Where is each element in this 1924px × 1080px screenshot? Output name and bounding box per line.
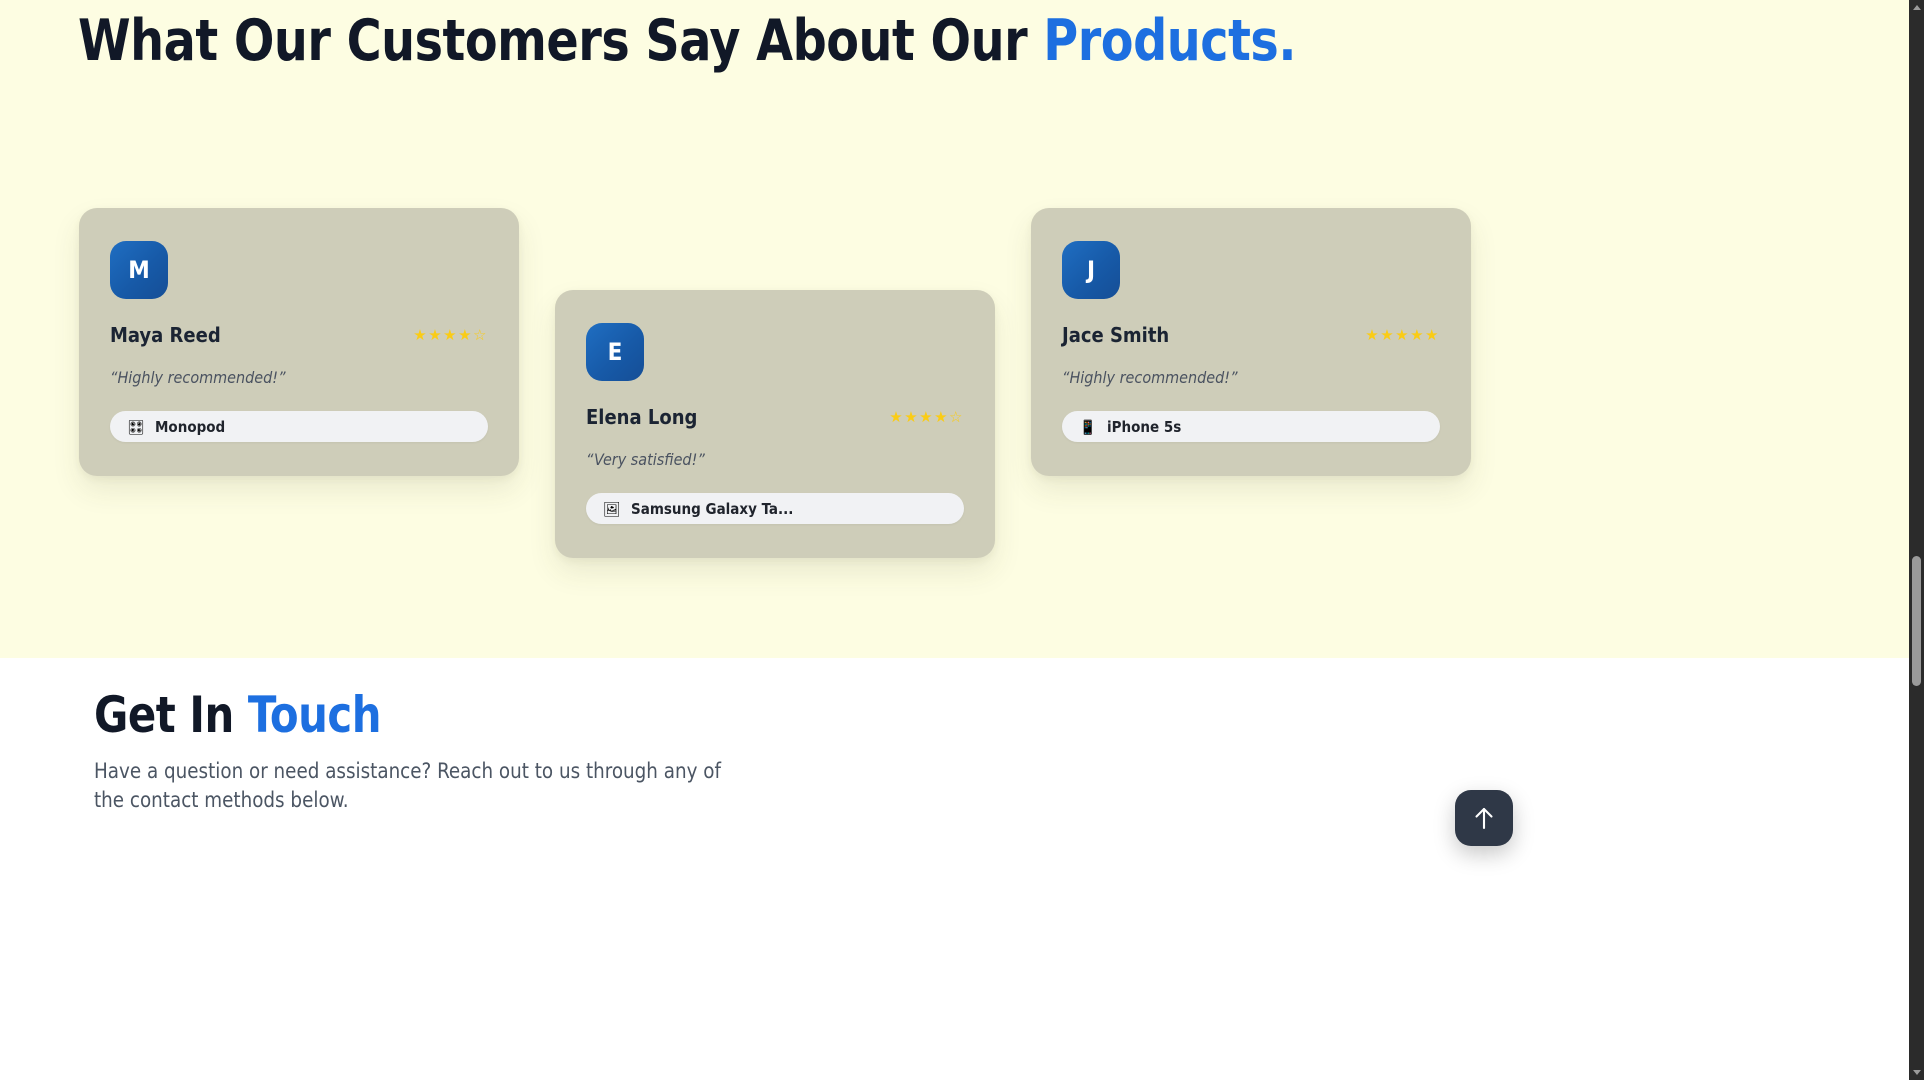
testimonial-header: Maya Reed ★★★★☆	[110, 323, 488, 347]
stars-filled-icon: ★★★★	[413, 327, 473, 344]
reviewer-name: Maya Reed	[110, 323, 221, 347]
review-quote: “Very satisfied!”	[586, 450, 705, 469]
product-name: iPhone 5s	[1107, 418, 1181, 436]
reviewer-name: Elena Long	[586, 405, 697, 429]
testimonial-card[interactable]: M Maya Reed ★★★★☆ “Highly recommended!” …	[79, 208, 519, 476]
contact-title-accent: Touch	[248, 686, 381, 744]
testimonials-section: What Our Customers Say About Our Product…	[0, 0, 1909, 658]
avatar: E	[586, 323, 644, 381]
stars-empty-icon: ☆	[473, 327, 488, 344]
scroll-down-arrow[interactable]	[1909, 1065, 1924, 1080]
page-title-accent: Products.	[1043, 8, 1296, 74]
review-quote: “Highly recommended!”	[1062, 368, 1238, 387]
review-quote: “Highly recommended!”	[110, 368, 286, 387]
testimonial-card[interactable]: E Elena Long ★★★★☆ “Very satisfied!” 🖼 S…	[555, 290, 995, 558]
stars-filled-icon: ★★★★★	[1365, 327, 1440, 344]
framed-picture-icon: 🖼	[603, 502, 619, 516]
stars-empty-icon: ☆	[949, 409, 964, 426]
scrollbar-thumb[interactable]	[1912, 556, 1921, 686]
product-name: Monopod	[155, 418, 225, 436]
mobile-phone-icon: 📱	[1079, 420, 1095, 434]
contact-title-plain: Get In	[94, 686, 248, 744]
monopod-icon: 🎛	[127, 420, 143, 434]
arrow-up-icon	[1472, 805, 1496, 831]
contact-subtitle: Have a question or need assistance? Reac…	[94, 757, 754, 815]
page-viewport: What Our Customers Say About Our Product…	[0, 0, 1924, 1080]
contact-title: Get In Touch	[94, 686, 381, 744]
product-name: Samsung Galaxy Ta...	[631, 500, 793, 518]
scroll-up-arrow[interactable]	[1909, 0, 1924, 15]
page-title: What Our Customers Say About Our Product…	[78, 8, 1296, 74]
product-chip[interactable]: 🖼 Samsung Galaxy Ta...	[586, 493, 964, 524]
star-rating: ★★★★★	[1365, 328, 1440, 343]
testimonial-card[interactable]: J Jace Smith ★★★★★ “Highly recommended!”…	[1031, 208, 1471, 476]
star-rating: ★★★★☆	[413, 328, 488, 343]
stars-filled-icon: ★★★★	[889, 409, 949, 426]
testimonial-header: Elena Long ★★★★☆	[586, 405, 964, 429]
avatar: M	[110, 241, 168, 299]
product-chip[interactable]: 🎛 Monopod	[110, 411, 488, 442]
scroll-to-top-button[interactable]	[1455, 790, 1513, 846]
reviewer-name: Jace Smith	[1062, 323, 1169, 347]
product-chip[interactable]: 📱 iPhone 5s	[1062, 411, 1440, 442]
vertical-scrollbar[interactable]	[1909, 0, 1924, 1080]
testimonial-header: Jace Smith ★★★★★	[1062, 323, 1440, 347]
avatar: J	[1062, 241, 1120, 299]
star-rating: ★★★★☆	[889, 410, 964, 425]
page-title-plain: What Our Customers Say About Our	[78, 8, 1043, 74]
